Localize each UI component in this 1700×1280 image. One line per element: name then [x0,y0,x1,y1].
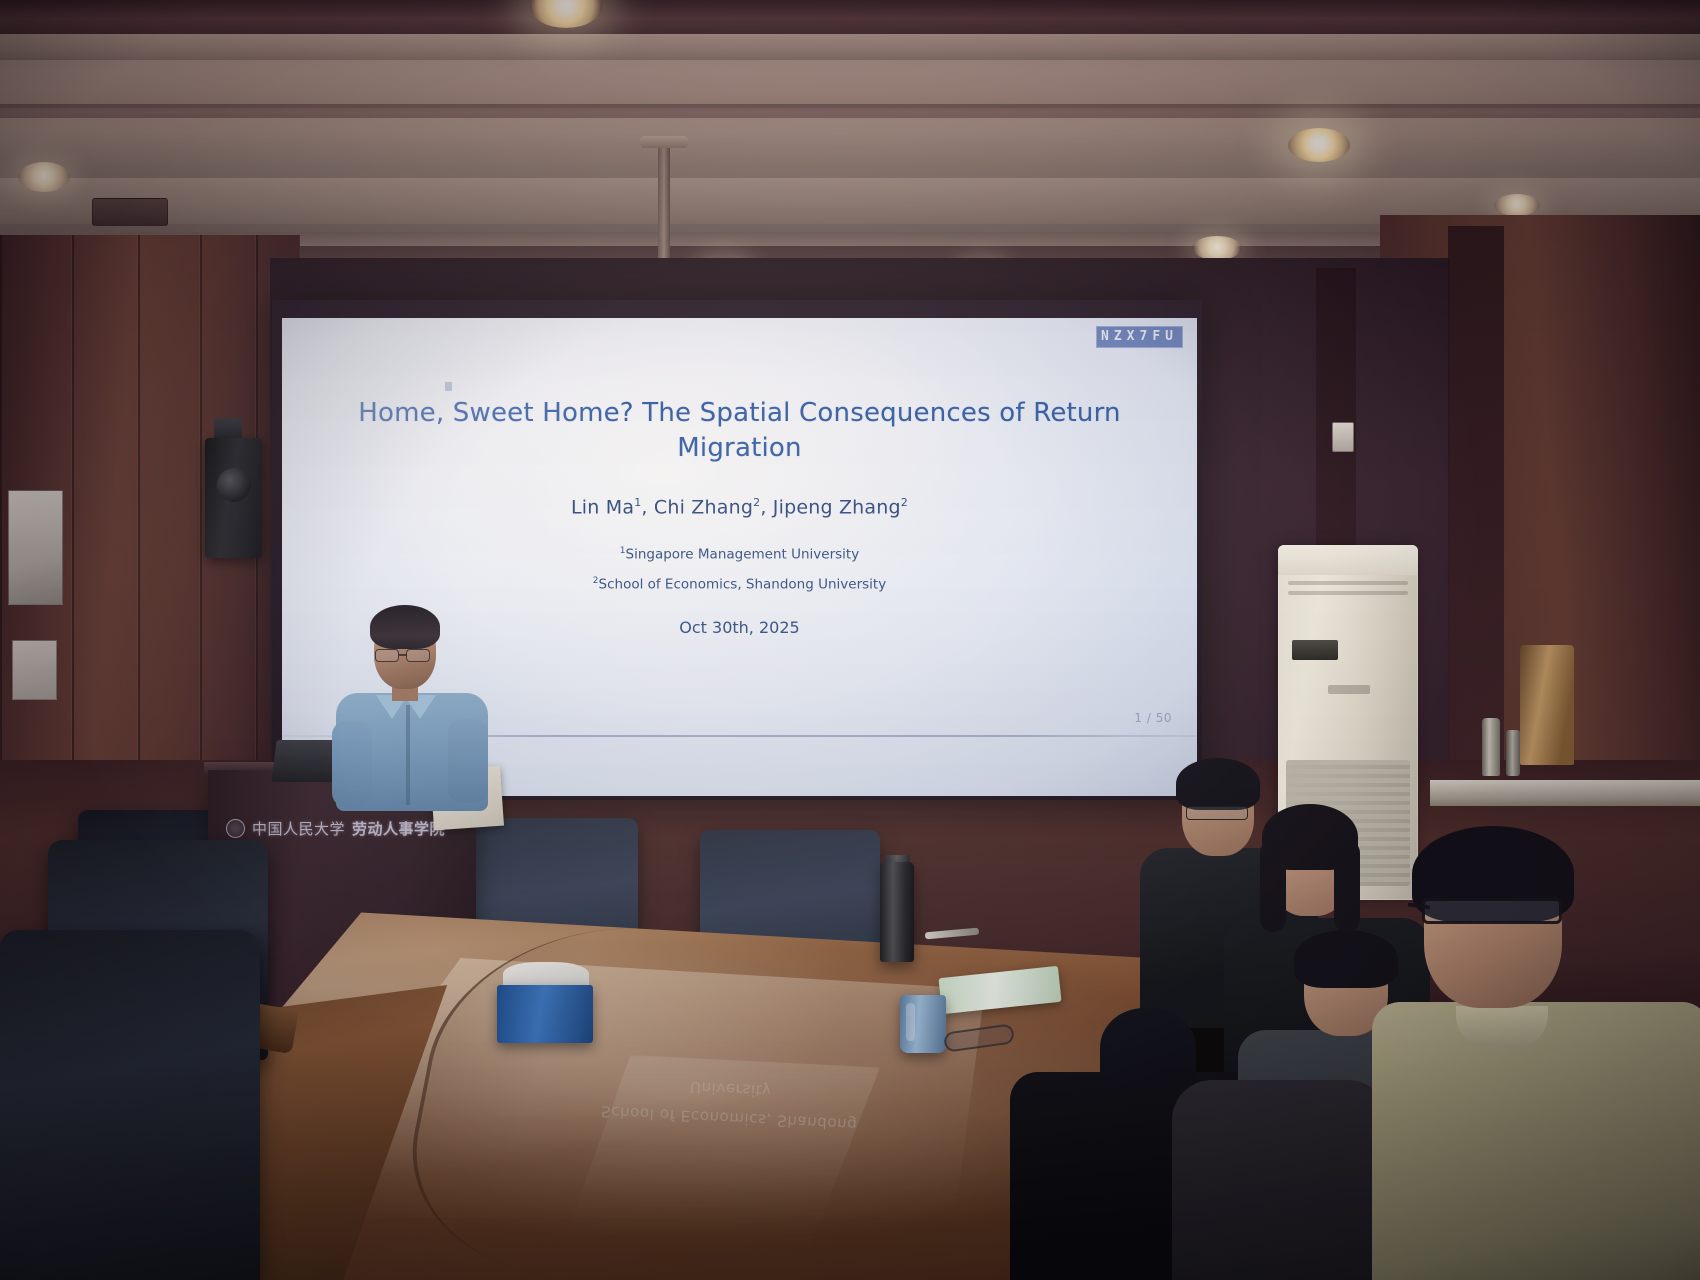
author-name-3: Jipeng Zhang [773,496,901,518]
slide-watermark-code: NZX7FU [1096,326,1183,348]
slide-affiliation-1: 1Singapore Management University [352,546,1127,563]
wall-speaker [205,438,262,558]
podium-label-primary: 中国人民大学 [252,818,345,839]
ceiling-beam-2 [0,60,1700,108]
audience-2-hair-right [1334,840,1360,932]
mug-highlight [906,1003,915,1041]
presenter-arm-left [332,721,372,807]
audience-6-torso [1172,1080,1388,1280]
audience-5-glasses [1422,898,1562,924]
affiliation-text-2: School of Economics, Shandong University [599,577,887,593]
presenter-glasses-right [406,649,430,662]
presenter-glasses-left [375,649,399,662]
ac-control-panel[interactable] [1292,640,1338,660]
ceiling-beam-1 [0,34,1700,60]
university-seal-icon [226,819,245,838]
conference-room-photo: NZX7FU Home, Sweet Home? The Spatial Con… [0,0,1700,1280]
wall-small-panel [12,640,57,700]
ceiling-light-8 [1494,194,1540,216]
slide-affiliation-2: 2School of Economics, Shandong Universit… [352,576,1127,593]
audience-member-5 [1372,826,1700,1280]
decor-stand [1520,645,1574,765]
ceiling-light-7 [1288,128,1350,162]
presenter [330,605,500,805]
ac-brand-logo [1328,685,1370,694]
speaker-cone-icon [217,468,251,502]
presenter-hair [370,605,440,649]
slide-title-line-1: Home, Sweet Home? The Spatial Consequenc… [358,398,1120,428]
podium-institution-logo: 中国人民大学 劳动人事学院 [226,815,458,841]
ceiling-light-6 [1192,236,1242,260]
author-sep-2: , [760,496,772,518]
ac-vent-slot [1288,591,1408,595]
audience-2-hair-left [1260,840,1286,932]
slide-title: Home, Sweet Home? The Spatial Consequenc… [352,396,1127,465]
ceiling-vent [92,198,168,226]
water-bottle-2 [1506,730,1520,776]
ceiling-light-2 [18,162,70,192]
audience-5-torso [1372,1002,1700,1280]
presenter-arm-right [448,719,488,803]
wall-dark-strip-2 [1448,226,1504,786]
ceiling-band-mid [0,104,1700,118]
mouse-cursor-icon [445,382,452,391]
air-conditioner-top [1278,545,1418,575]
ceiling-band-top [0,0,1700,34]
audience-5-collar [1456,1006,1548,1046]
slide-title-line-2: Migration [677,433,801,463]
ceiling-slot [120,232,1500,246]
author-sup-3: 2 [901,496,908,509]
author-name-2: Chi Zhang [654,496,753,518]
slide-page-counter: 1 / 50 [1134,711,1172,725]
water-bottle [1482,718,1500,776]
affiliation-text-1: Singapore Management University [626,547,860,563]
reflected-affiliation: School of Economics, Shandong University [601,1078,858,1133]
presenter-glasses-bridge [399,654,407,656]
author-name-1: Lin Ma [571,496,634,518]
ac-vent-slot [1288,581,1408,585]
ceramic-mug [900,995,946,1053]
presenter-shirt-placket [406,705,410,805]
foreground-chair[interactable] [0,930,260,1280]
wall-light-switch[interactable] [1332,422,1354,452]
audience-member-6 [1172,1080,1382,1280]
slide-authors: Lin Ma1, Chi Zhang2, Jipeng Zhang2 [352,496,1127,518]
projector-mount-plate [640,136,688,148]
side-shelf [1430,780,1700,806]
wall-electrical-panel [8,490,63,605]
author-sep-1: , [641,496,653,518]
tissue-box [497,985,593,1043]
podium-label-secondary: 劳动人事学院 [352,818,445,839]
thermos-bottle [880,862,914,962]
